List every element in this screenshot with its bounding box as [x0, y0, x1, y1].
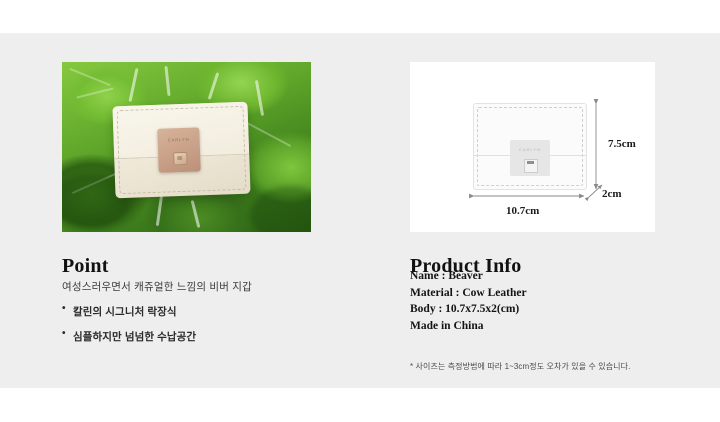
spec-row: Material : Cow Leather	[410, 285, 527, 302]
spec-diagram-panel: CARLYN 10	[410, 62, 655, 232]
point-bullet-list: 칼린의 시그니처 락장식 심플하지만 넘넘한 수납공간	[62, 304, 196, 354]
list-item: 칼린의 시그니처 락장식	[62, 304, 196, 319]
product-spec-list: Name : Beaver Material : Cow Leather Bod…	[410, 268, 527, 334]
product-photo[interactable]: CARLYN	[62, 62, 311, 232]
point-heading: Point	[62, 255, 109, 278]
spec-row: Name : Beaver	[410, 268, 527, 285]
size-disclaimer-note: * 사이즈는 측정방법에 따라 1~3cm정도 오차가 있을 수 있습니다.	[410, 361, 630, 372]
width-dimension-label: 10.7cm	[506, 205, 539, 217]
depth-dimension-label: 2cm	[602, 188, 622, 200]
list-item: 심플하지만 넘넘한 수납공간	[62, 329, 196, 344]
wallet-lock-hardware	[173, 152, 187, 165]
product-detail-page: CARLYN Point 여성스러우면서 캐쥬얼한 느낌의 비버 지갑 칼린의 …	[0, 0, 720, 422]
dimension-diagram: CARLYN 10	[410, 62, 655, 232]
height-dimension-label: 7.5cm	[608, 138, 636, 150]
spec-row: Body : 10.7x7.5x2(cm)	[410, 301, 527, 318]
photo-wallet: CARLYN	[112, 102, 250, 199]
point-subtitle: 여성스러우면서 캐쥬얼한 느낌의 비버 지갑	[62, 279, 252, 294]
wallet-clasp-strap	[157, 127, 201, 172]
spec-row: Made in China	[410, 318, 527, 335]
